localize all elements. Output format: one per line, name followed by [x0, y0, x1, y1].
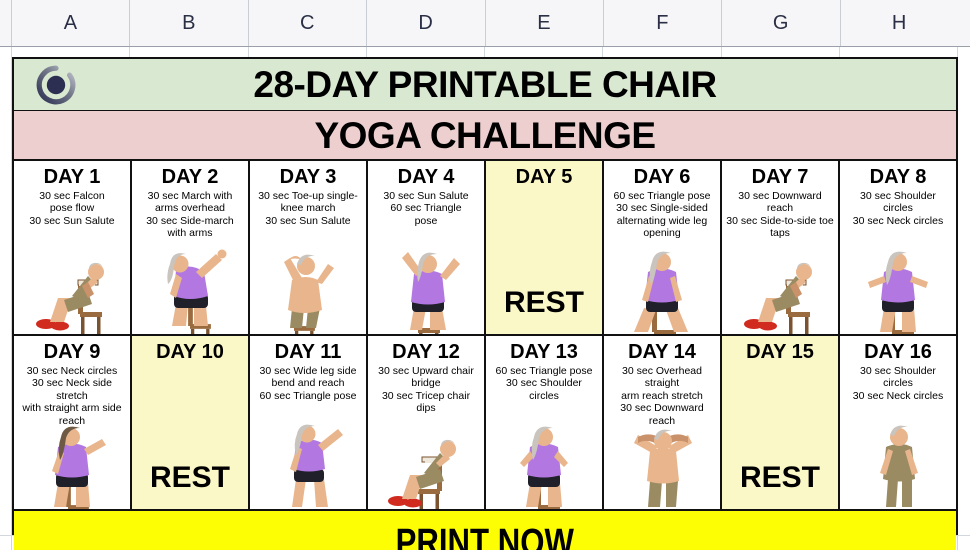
print-now-banner[interactable]: PRINT NOW: [14, 511, 956, 550]
day-description: 30 sec March with arms overhead 30 sec S…: [142, 190, 238, 240]
day-title: DAY 3: [280, 166, 337, 188]
column-header-e[interactable]: E: [486, 0, 604, 46]
rest-label: REST: [486, 286, 602, 320]
day-title: DAY 15: [746, 341, 814, 363]
pose-figure-image: [486, 417, 602, 509]
day-description: 30 sec Sun Salute 60 sec Triangle pose: [379, 190, 472, 227]
day-title: DAY 9: [44, 341, 101, 363]
day-cell[interactable]: DAY 830 sec Shoulder circles 30 sec Neck…: [840, 161, 956, 334]
poster-title-band: 28-DAY PRINTABLE CHAIR: [14, 59, 956, 111]
target-ring-icon: [36, 65, 76, 105]
column-header-c[interactable]: C: [249, 0, 367, 46]
pose-figure-image: [14, 417, 130, 509]
poster-title-line1: 28-DAY PRINTABLE CHAIR: [14, 66, 956, 103]
column-header-row: A B C D E F G H: [0, 0, 970, 47]
day-title: DAY 13: [510, 341, 578, 363]
day-title: DAY 5: [516, 166, 573, 188]
pose-figure-image: [604, 417, 720, 509]
column-header-g[interactable]: G: [722, 0, 840, 46]
day-title: DAY 2: [162, 166, 219, 188]
day-description: 30 sec Shoulder circles 30 sec Neck circ…: [840, 190, 956, 227]
day-row-1: DAY 130 sec Falcon pose flow 30 sec Sun …: [14, 161, 956, 336]
day-description: 30 sec Upward chair bridge 30 sec Tricep…: [368, 365, 484, 415]
day-cell[interactable]: DAY 930 sec Neck circles 30 sec Neck sid…: [14, 336, 132, 509]
rest-day-cell[interactable]: DAY 10REST: [132, 336, 250, 509]
day-cell[interactable]: DAY 1630 sec Shoulder circles 30 sec Nec…: [840, 336, 956, 509]
rest-label: REST: [132, 461, 248, 495]
pose-figure-image: [604, 242, 720, 334]
day-description: 30 sec Toe-up single- knee march 30 sec …: [254, 190, 362, 227]
day-description: 30 sec Downward reach 30 sec Side-to-sid…: [722, 190, 838, 240]
column-header-b[interactable]: B: [130, 0, 248, 46]
pose-figure-image: [368, 417, 484, 509]
pose-figure-image: [840, 417, 956, 509]
day-title: DAY 6: [634, 166, 691, 188]
day-cell[interactable]: DAY 1130 sec Wide leg side bend and reac…: [250, 336, 368, 509]
pose-figure-image: [840, 242, 956, 334]
day-title: DAY 7: [752, 166, 809, 188]
spreadsheet-app: A B C D E F G H: [0, 0, 970, 550]
day-description: 30 sec Falcon pose flow 30 sec Sun Salut…: [25, 190, 118, 227]
grid-right-gutter: [958, 47, 970, 550]
day-cell[interactable]: DAY 430 sec Sun Salute 60 sec Triangle p…: [368, 161, 486, 334]
pose-figure-image: [368, 242, 484, 334]
select-all-corner[interactable]: [0, 0, 12, 46]
pose-figure-image: [132, 242, 248, 334]
rest-label: REST: [722, 461, 838, 495]
print-now-label: PRINT NOW: [396, 522, 574, 550]
day-title: DAY 16: [864, 341, 932, 363]
day-title: DAY 14: [628, 341, 696, 363]
pose-figure-image: [250, 242, 366, 334]
right-gutter: [958, 0, 970, 46]
day-cell[interactable]: DAY 230 sec March with arms overhead 30 …: [132, 161, 250, 334]
day-row-2: DAY 930 sec Neck circles 30 sec Neck sid…: [14, 336, 956, 511]
day-title: DAY 8: [870, 166, 927, 188]
rest-day-cell[interactable]: DAY 5REST: [486, 161, 604, 334]
day-title: DAY 4: [398, 166, 455, 188]
poster-title-band-2: YOGA CHALLENGE: [14, 111, 956, 161]
column-header-a[interactable]: A: [12, 0, 130, 46]
chair-yoga-poster: 28-DAY PRINTABLE CHAIR YOGA CHALLENGE DA…: [12, 57, 958, 535]
day-description: 30 sec Wide leg side bend and reach 60 s…: [256, 365, 361, 402]
day-cell[interactable]: DAY 1230 sec Upward chair bridge 30 sec …: [368, 336, 486, 509]
column-header-f[interactable]: F: [604, 0, 722, 46]
pose-figure-image: [14, 242, 130, 334]
day-title: DAY 10: [156, 341, 224, 363]
day-title: DAY 11: [275, 341, 342, 363]
column-header-h[interactable]: H: [841, 0, 958, 46]
day-cell[interactable]: DAY 330 sec Toe-up single- knee march 30…: [250, 161, 368, 334]
day-description: 60 sec Triangle pose 30 sec Shoulder cir…: [492, 365, 597, 402]
day-title: DAY 1: [44, 166, 101, 188]
column-header-d[interactable]: D: [367, 0, 485, 46]
rest-day-cell[interactable]: DAY 15REST: [722, 336, 840, 509]
day-title: DAY 12: [392, 341, 460, 363]
grid-row-header-col: [0, 47, 12, 550]
day-description: 60 sec Triangle pose 30 sec Single-sided…: [610, 190, 715, 240]
pose-figure-image: [722, 242, 838, 334]
pose-figure-image: [250, 417, 366, 509]
day-cell[interactable]: DAY 660 sec Triangle pose 30 sec Single-…: [604, 161, 722, 334]
poster-title-line2: YOGA CHALLENGE: [314, 117, 655, 154]
day-cell[interactable]: DAY 130 sec Falcon pose flow 30 sec Sun …: [14, 161, 132, 334]
day-cell[interactable]: DAY 1430 sec Overhead straight arm reach…: [604, 336, 722, 509]
day-cell[interactable]: DAY 730 sec Downward reach 30 sec Side-t…: [722, 161, 840, 334]
day-description: 30 sec Shoulder circles 30 sec Neck circ…: [840, 365, 956, 402]
day-cell[interactable]: DAY 1360 sec Triangle pose 30 sec Should…: [486, 336, 604, 509]
